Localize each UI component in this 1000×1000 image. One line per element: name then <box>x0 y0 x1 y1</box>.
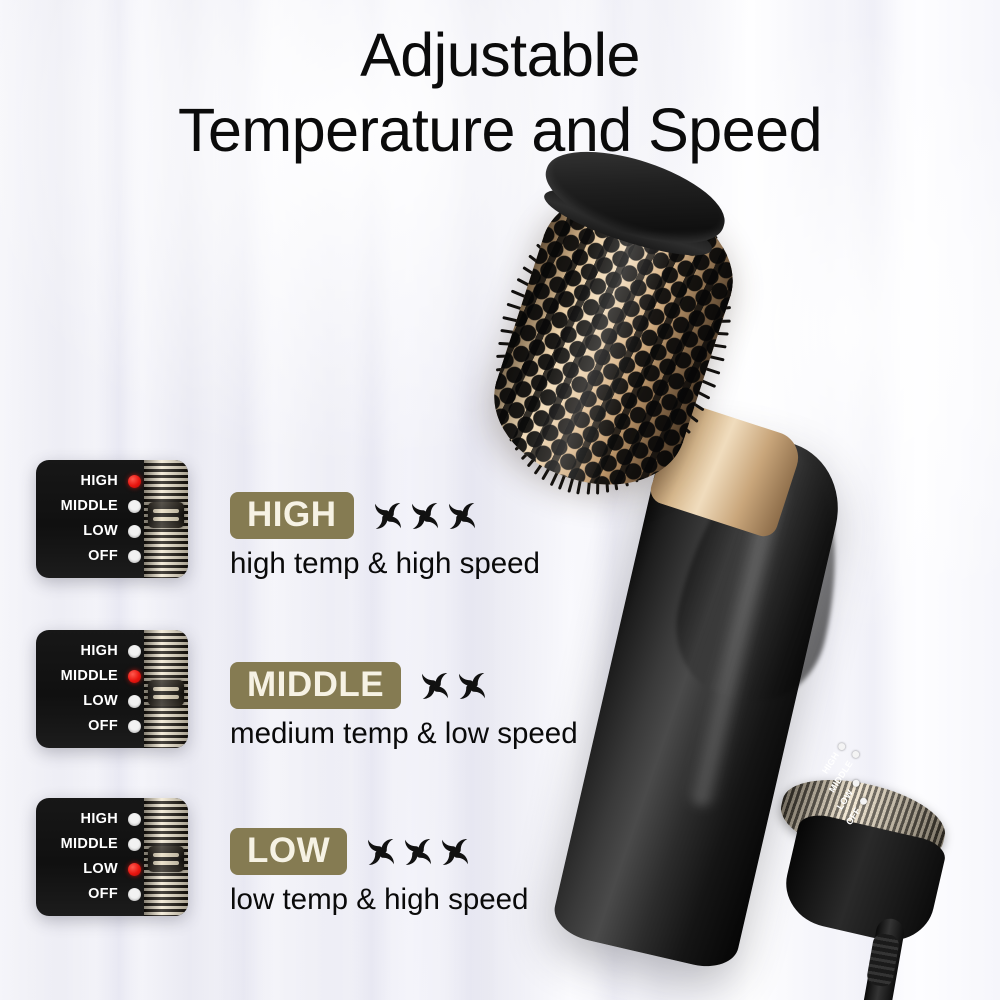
slider-shading <box>144 630 188 748</box>
switch-option-label: HIGH <box>81 644 118 659</box>
fan-swirl-icon <box>454 668 490 704</box>
mode-description-high: high temp & high speed <box>230 548 540 580</box>
switch-option-label: HIGH <box>81 812 118 827</box>
mode-badge-high: HIGH <box>230 492 354 539</box>
mode-badge-low: LOW <box>230 828 347 875</box>
indicator-inactive <box>128 500 141 513</box>
switch-indicator-column <box>124 639 144 739</box>
indicator-inactive <box>128 838 141 851</box>
fan-swirl-icon <box>417 668 453 704</box>
indicator-inactive <box>128 645 141 658</box>
mode-description-middle: medium temp & low speed <box>230 718 578 750</box>
fan-swirl-icon <box>407 498 443 534</box>
switch-option-label: HIGH <box>81 474 118 489</box>
switch-option-label: MIDDLE <box>61 669 118 684</box>
mode-block-high: HIGH high temp & high speed <box>230 492 540 580</box>
slider-shading <box>144 798 188 916</box>
switch-option-row[interactable]: OFF <box>42 544 118 569</box>
switch-option-label: LOW <box>83 694 118 709</box>
indicator-active <box>128 670 141 683</box>
switch-label-column: HIGH MIDDLE LOW OFF <box>42 469 118 569</box>
switch-option-label: OFF <box>88 719 118 734</box>
fan-icon-group <box>370 498 480 534</box>
indicator-inactive <box>128 525 141 538</box>
fan-swirl-icon <box>437 834 473 870</box>
switch-option-row[interactable]: HIGH <box>42 807 118 832</box>
slider-shading <box>144 460 188 578</box>
handle-dot-low <box>851 779 861 789</box>
switch-option-row[interactable]: OFF <box>42 882 118 907</box>
handle-dot-high <box>837 741 847 751</box>
fan-swirl-icon <box>363 834 399 870</box>
switch-indicator-column <box>124 469 144 569</box>
indicator-inactive <box>128 550 141 563</box>
indicator-inactive <box>128 888 141 901</box>
handle-dot-off <box>858 796 868 806</box>
indicator-active <box>128 863 141 876</box>
switch-label-column: HIGH MIDDLE LOW OFF <box>42 639 118 739</box>
indicator-inactive <box>128 695 141 708</box>
mode-badge-middle: MIDDLE <box>230 662 401 709</box>
fan-icon-group <box>417 668 490 704</box>
mode-header: HIGH <box>230 492 540 539</box>
switch-option-row[interactable]: LOW <box>42 689 118 714</box>
infographic-canvas: Adjustable Temperature and Speed HIGH MI… <box>0 0 1000 1000</box>
fan-icon-group <box>363 834 473 870</box>
title-line-1: Adjustable <box>0 18 1000 92</box>
switch-option-row[interactable]: HIGH <box>42 469 118 494</box>
switch-option-row[interactable]: MIDDLE <box>42 664 118 689</box>
switch-option-row[interactable]: OFF <box>42 714 118 739</box>
switch-option-label: OFF <box>88 887 118 902</box>
slider-wheel[interactable] <box>144 460 188 578</box>
mode-block-low: LOW low temp & high speed <box>230 828 528 916</box>
switch-option-row[interactable]: MIDDLE <box>42 832 118 857</box>
indicator-inactive <box>128 720 141 733</box>
slider-wheel[interactable] <box>144 798 188 916</box>
mode-description-low: low temp & high speed <box>230 884 528 916</box>
switch-option-label: OFF <box>88 549 118 564</box>
fan-swirl-icon <box>400 834 436 870</box>
title-line-2: Temperature and Speed <box>0 92 1000 168</box>
page-title: Adjustable Temperature and Speed <box>0 18 1000 168</box>
switch-option-row[interactable]: HIGH <box>42 639 118 664</box>
switch-indicator-column <box>124 807 144 907</box>
switch-option-label: LOW <box>83 862 118 877</box>
switch-panel-middle[interactable]: HIGH MIDDLE LOW OFF <box>36 630 188 748</box>
indicator-active <box>128 475 141 488</box>
switch-option-row[interactable]: LOW <box>42 519 118 544</box>
switch-option-label: LOW <box>83 524 118 539</box>
switch-option-label: MIDDLE <box>61 837 118 852</box>
switch-option-row[interactable]: MIDDLE <box>42 494 118 519</box>
mode-header: LOW <box>230 828 528 875</box>
indicator-inactive <box>128 813 141 826</box>
fan-swirl-icon <box>444 498 480 534</box>
slider-wheel[interactable] <box>144 630 188 748</box>
handle-dot-middle <box>850 750 860 760</box>
mode-block-middle: MIDDLE medium temp & low speed <box>230 662 578 750</box>
switch-panel-low[interactable]: HIGH MIDDLE LOW OFF <box>36 798 188 916</box>
switch-option-row[interactable]: LOW <box>42 857 118 882</box>
switch-option-label: MIDDLE <box>61 499 118 514</box>
mode-header: MIDDLE <box>230 662 578 709</box>
switch-label-column: HIGH MIDDLE LOW OFF <box>42 807 118 907</box>
fan-swirl-icon <box>370 498 406 534</box>
switch-panel-high[interactable]: HIGH MIDDLE LOW OFF <box>36 460 188 578</box>
